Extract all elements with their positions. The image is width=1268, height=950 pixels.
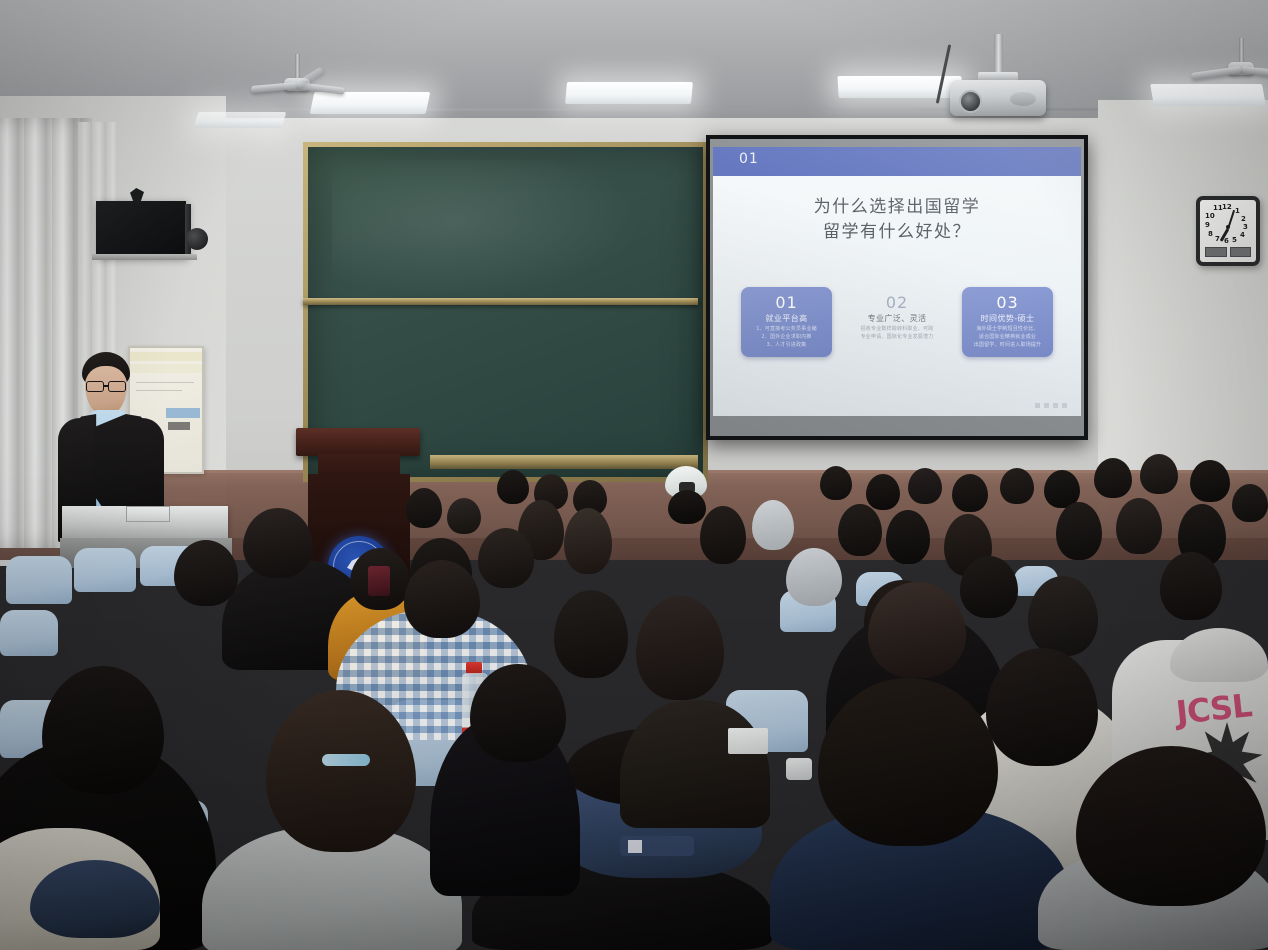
easel-blue-mark [166,408,200,418]
projection-screen: 01 为什么选择出国留学 留学有什么好处？ 01 就业平台高 1、可直接考公务员… [706,135,1088,440]
projector-lens-icon [959,90,982,113]
audience-head [1140,454,1178,494]
fluorescent-panel-light [1150,84,1266,106]
lecture-chair [0,610,58,656]
chalkboard-haze [332,160,640,299]
cup [786,758,812,780]
projector-vent [1010,92,1036,106]
slide-card-03: 03 时间优势-硕士 海外硕士学制短且性价比、 适合国际业精英就业成业 出国留学… [962,287,1053,357]
presentation-slide: 01 为什么选择出国留学 留学有什么好处？ 01 就业平台高 1、可直接考公务员… [713,147,1081,416]
slide-card-01: 01 就业平台高 1、可直接考公务员事业编 2、国外企业求职内推 3、人才引进政… [741,287,832,357]
audience-head [1116,498,1162,554]
clock-number: 10 [1205,213,1215,220]
clock-number: 6 [1224,238,1229,245]
card-heading: 时间优势-硕士 [967,314,1048,324]
audience-head [42,666,164,794]
fan-blade [1241,66,1268,78]
audience-head [174,540,238,606]
hair-clip-icon [322,754,370,766]
audience-head [868,582,966,678]
audience-head [820,466,852,500]
lectern-neck [318,454,400,476]
fluorescent-panel-light [565,82,693,104]
audience-head [478,528,534,588]
clock-date-cell [1230,247,1252,257]
chalkboard-divider-rail [303,298,698,305]
slide-page-dots [1035,403,1067,408]
slide-title-line-2: 留学有什么好处？ [713,220,1081,245]
page-dot [1062,403,1067,408]
slide-title-line-1: 为什么选择出国留学 [713,195,1081,220]
wall-clock: 12 1 2 3 4 5 6 7 8 9 10 11 [1196,196,1260,266]
audience-head [1028,576,1098,656]
audience-head [447,498,481,534]
clock-center-pin [1226,225,1230,229]
clock-number: 5 [1232,237,1237,244]
audience-head [908,468,942,504]
card-bullet: 出国留学、时间进入职场提升 [967,342,1048,350]
clock-number: 12 [1222,204,1232,211]
clock-number: 7 [1215,236,1220,243]
audience-head [1094,458,1132,498]
audience-head [1160,552,1222,620]
audience-head [554,590,628,678]
lecture-chair [6,556,72,604]
fan-blade [1191,66,1241,80]
card-number: 03 [967,294,1048,312]
chalk-tray [430,455,698,469]
clock-date-cell [1205,247,1227,257]
audience-head [636,596,724,700]
card-bullet: 招收专业数样跨转科职业、可跨 [857,326,938,334]
fan-blade [251,82,297,93]
audience-head [564,508,612,574]
ceiling-fan [252,54,342,94]
speaker-shelf [92,254,197,260]
glasses-icon [85,381,127,390]
audience-head [243,508,313,578]
audience-head [866,474,900,510]
lecture-chair [74,548,136,592]
clock-number: 9 [1205,222,1210,229]
ceiling-projector [950,34,1046,120]
page-dot [1035,403,1040,408]
phone [368,566,390,596]
lecture-hall-photo: 12 1 2 3 4 5 6 7 8 9 10 11 [0,0,1268,950]
clock-date-window [1205,247,1251,257]
cap-strap-buckle [628,840,642,853]
wall-speaker [96,201,186,256]
slide-card-02: 02 专业广泛、灵活 招收专业数样跨转科职业、可跨 专业申请、国际化专业发展潜力 [852,287,943,350]
card-number: 02 [857,294,938,312]
clock-number: 2 [1241,216,1246,223]
audience-head [838,504,882,556]
card-bullet: 1、可直接考公务员事业编 [746,326,827,334]
clock-number: 4 [1240,232,1245,239]
audience-head [952,474,988,512]
audience-head [1056,502,1102,560]
fan-rod [1239,38,1244,64]
speaker-knob [186,228,208,250]
card-heading: 专业广泛、灵活 [857,314,938,324]
notebook [728,728,768,754]
hoodie-logo-text: JCSL [1174,686,1253,732]
page-dot [1053,403,1058,408]
screen-surface: 01 为什么选择出国留学 留学有什么好处？ 01 就业平台高 1、可直接考公务员… [710,139,1084,436]
page-dot [1044,403,1049,408]
fluorescent-panel-light [310,92,431,114]
fluorescent-panel-light [194,112,287,128]
slide-title: 为什么选择出国留学 留学有什么好处？ [713,195,1081,244]
audience-head [752,500,794,550]
slide-section-number: 01 [739,151,759,167]
fan-rod [295,54,300,80]
easel-grey-mark [168,422,190,430]
audience-head [700,506,746,564]
audience-head [960,556,1018,618]
audience-head [886,510,930,564]
card-bullet: 3、人才引进政策 [746,342,827,350]
slide-card-row: 01 就业平台高 1、可直接考公务员事业编 2、国外企业求职内推 3、人才引进政… [741,287,1053,379]
slide-header-bar: 01 [713,147,1081,176]
audience-head [786,548,842,606]
ceiling-fan [1196,38,1268,78]
card-bullet: 适合国际业精英就业成业 [967,334,1048,342]
audience-head [986,648,1098,766]
card-number: 01 [746,294,827,312]
audience-head [1232,484,1268,522]
projector-mount [994,34,1003,74]
audience-head [668,490,706,524]
card-bullet: 海外硕士学制短且性价比、 [967,326,1048,334]
desk-control-panel [126,506,170,522]
card-heading: 就业平台高 [746,314,827,324]
audience-head [470,664,566,762]
clock-number: 8 [1208,231,1213,238]
audience-head [497,470,529,504]
audience-head [406,488,442,528]
lectern-top [296,428,420,456]
clock-number: 3 [1243,224,1248,231]
card-bullet: 2、国外企业求职内推 [746,334,827,342]
clock-number: 11 [1213,205,1223,212]
audience-head [1000,468,1034,504]
card-bullet: 专业申请、国际化专业发展潜力 [857,334,938,342]
audience-head [404,560,480,638]
clock-number: 1 [1235,208,1240,215]
audience-head [1190,460,1230,502]
hoodie-hood [1170,628,1268,682]
